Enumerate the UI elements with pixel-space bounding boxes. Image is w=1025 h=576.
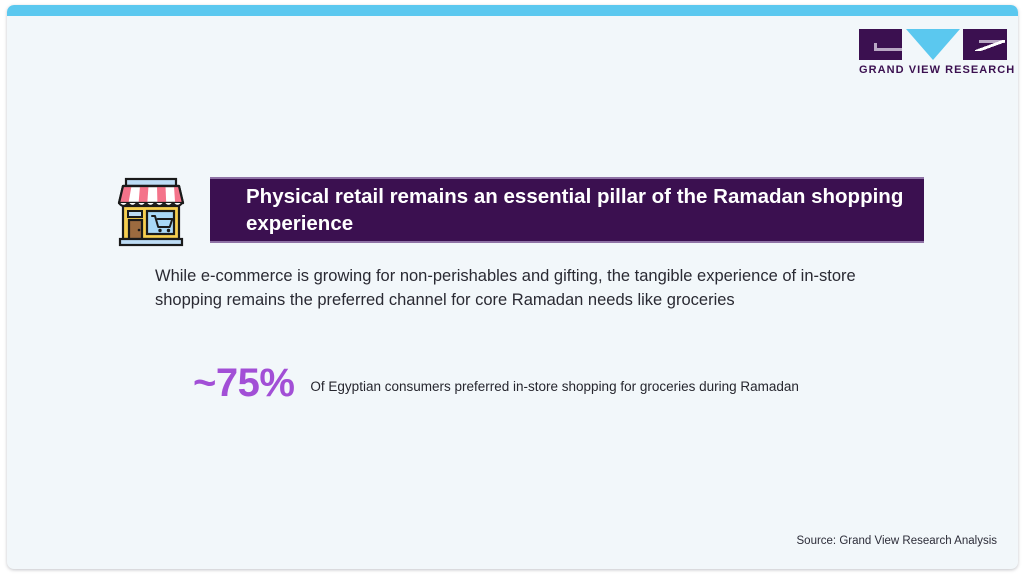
- storefront-icon: [111, 173, 191, 253]
- logo-triangle-icon: [906, 29, 960, 60]
- logo-wordmark: GRAND VIEW RESEARCH: [859, 64, 1007, 76]
- logo-left-bar: [875, 48, 902, 51]
- statistic-block: ~75% Of Egyptian consumers preferred in-…: [193, 361, 799, 406]
- stat-label: Of Egyptian consumers preferred in-store…: [310, 379, 799, 394]
- page-title: Physical retail remains an essential pil…: [210, 183, 906, 238]
- logo-right-slash: [975, 40, 1005, 51]
- logo-left-tick: [874, 43, 877, 51]
- grand-view-research-logo: GRAND VIEW RESEARCH: [859, 29, 1007, 81]
- stat-value: ~75%: [193, 361, 294, 406]
- headline-banner: Physical retail remains an essential pil…: [210, 177, 924, 243]
- logo-marks: [859, 29, 1007, 62]
- source-note: Source: Grand View Research Analysis: [797, 535, 998, 547]
- top-accent-bar: [7, 5, 1018, 16]
- logo-left-block-icon: [859, 29, 902, 60]
- logo-right-block-icon: [963, 29, 1007, 60]
- slide-card: GRAND VIEW RESEARCH: [7, 5, 1018, 569]
- subtitle-text: While e-commerce is growing for non-peri…: [155, 264, 915, 313]
